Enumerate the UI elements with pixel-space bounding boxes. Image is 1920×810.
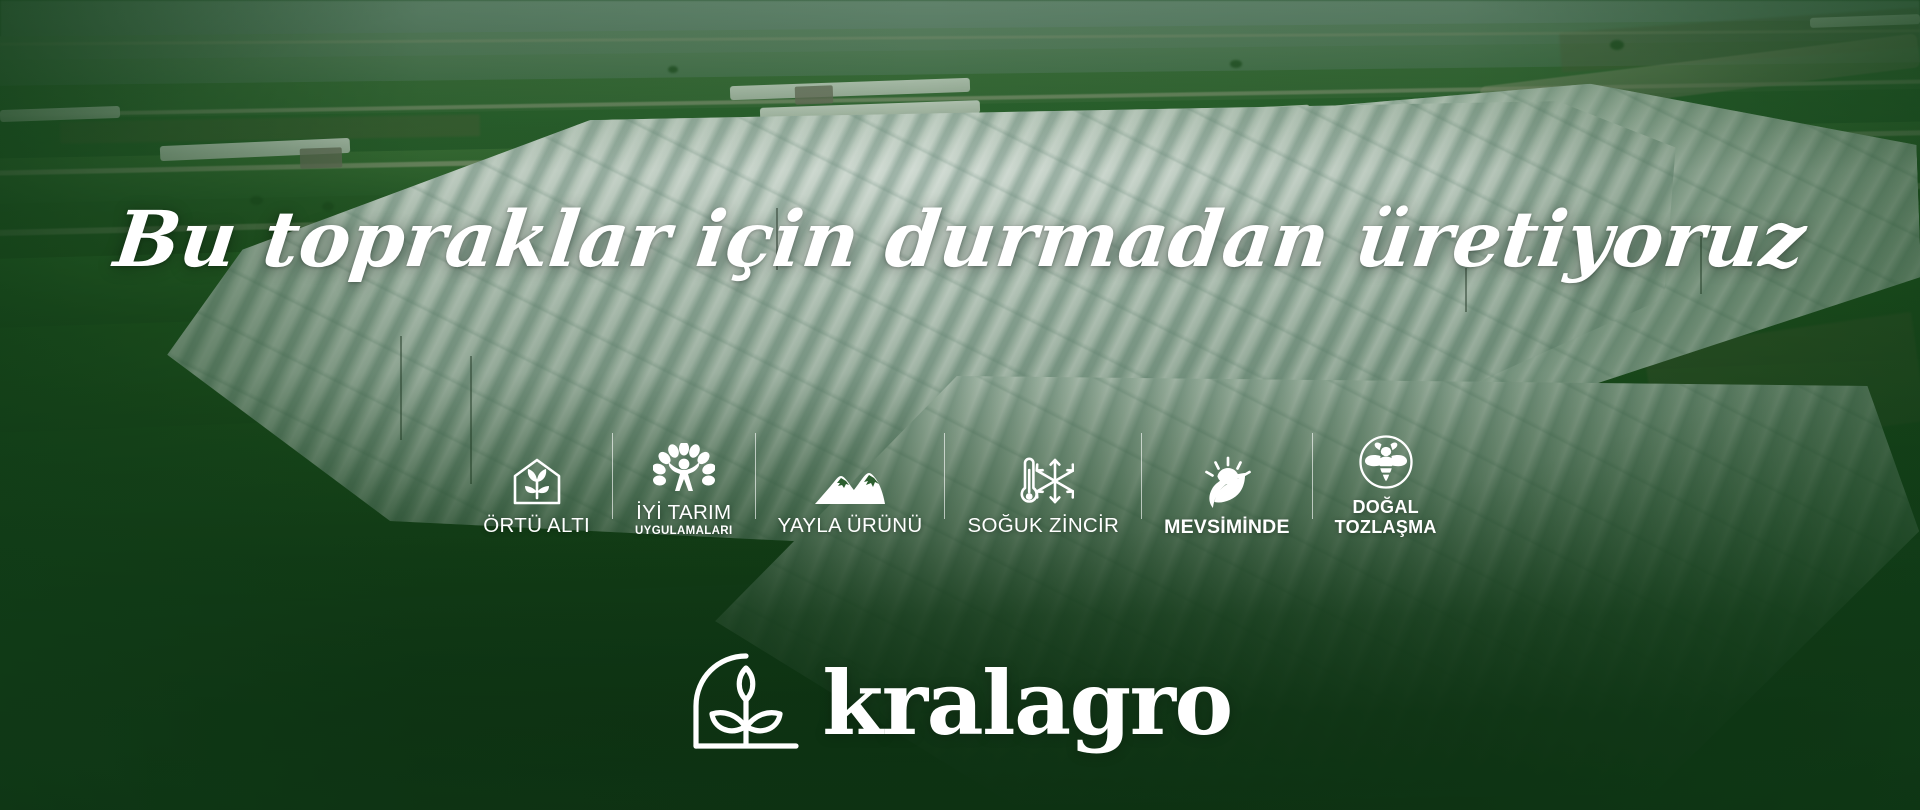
hero-banner: Bu topraklar için durmadan üretiyoruz ÖR… (0, 0, 1920, 810)
logo-wordmark: kralagro (822, 659, 1231, 747)
bee-circle-icon (1358, 432, 1414, 490)
badge-label: YAYLA ÜRÜNÜ (778, 515, 923, 537)
sunflower-person-icon (653, 437, 715, 495)
sun-leaf-icon (1198, 452, 1256, 510)
badge-soguk-zincir[interactable]: SOĞUK ZİNCİR (945, 425, 1141, 537)
hero-headline: Bu topraklar için durmadan üretiyoruz (0, 200, 1920, 282)
arch-plant-leaves-icon (688, 648, 804, 757)
badge-mevsiminde[interactable]: MEVSİMİNDE (1142, 425, 1312, 537)
greenhouse-leaf-icon (510, 450, 564, 508)
badge-sublabel: UYGULAMALARI (635, 525, 732, 537)
badge-label: İYİ TARIM (636, 502, 731, 524)
thermometer-snowflake-icon (1012, 450, 1074, 508)
feature-badge-strip: ÖRTÜ ALTI (0, 425, 1920, 537)
badge-label: DOĞAL (1352, 497, 1419, 517)
badge-label: MEVSİMİNDE (1164, 517, 1290, 537)
badge-dogal-tozlasma[interactable]: DOĞAL TOZLAŞMA (1313, 425, 1459, 537)
badge-label: SOĞUK ZİNCİR (967, 515, 1119, 537)
brand-logo[interactable]: kralagro (0, 648, 1920, 757)
badge-sublabel: TOZLAŞMA (1335, 517, 1437, 537)
badge-yayla-urunu[interactable]: YAYLA ÜRÜNÜ (756, 425, 945, 537)
mountains-icon (813, 450, 887, 508)
badge-label: ÖRTÜ ALTI (483, 515, 590, 537)
badge-ortu-alti[interactable]: ÖRTÜ ALTI (461, 425, 612, 537)
badge-iyi-tarim[interactable]: İYİ TARIM UYGULAMALARI (613, 425, 754, 537)
